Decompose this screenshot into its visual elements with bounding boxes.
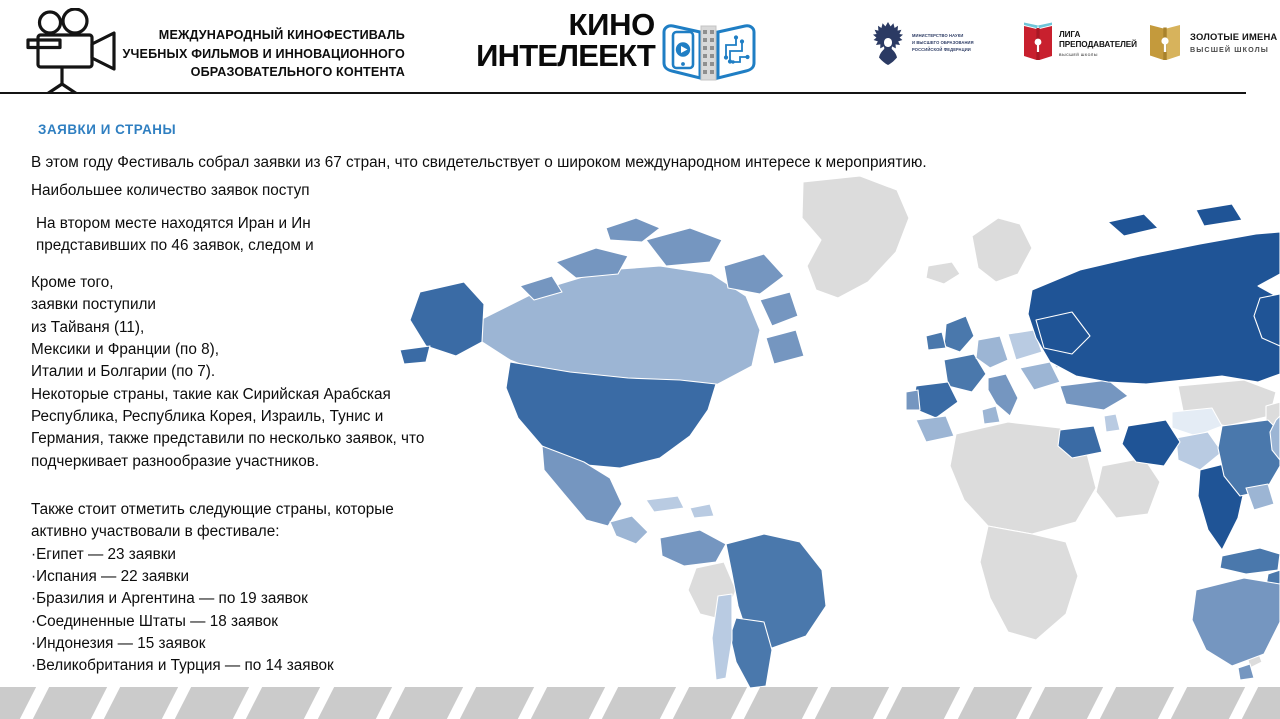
partner-minobrnauki-label: МИНИСТЕРСТВО НАУКИ И ВЫСШЕГО ОБРАЗОВАНИЯ… <box>912 32 974 53</box>
more-line: подчеркивает разнообразие участников. <box>31 451 424 473</box>
stripe <box>670 687 750 719</box>
stripe <box>1025 687 1105 719</box>
stripe <box>741 687 821 719</box>
stripe <box>314 687 394 719</box>
second-line2-clipped: представивших по 46 заявок, следом и <box>36 235 314 257</box>
paragraph-additional-countries: Кроме того, заявки поступили из Тайваня … <box>31 272 424 473</box>
partner-liga-label: ЛИГА ПРЕПОДАВАТЕЛЕЙ <box>1059 30 1137 49</box>
more-line: Германия, также представили по несколько… <box>31 428 424 450</box>
stripe <box>1239 687 1280 719</box>
brand-line-intelekt: ИНТЕЛЕЕКТ <box>470 41 655 72</box>
book-phone-film-icon <box>660 12 758 84</box>
partner-logos: МИНИСТЕРСТВО НАУКИ И ВЫСШЕГО ОБРАЗОВАНИЯ… <box>860 18 1260 78</box>
stripe <box>30 687 110 719</box>
russian-coat-of-arms-icon <box>868 20 908 71</box>
partner-liga-sublabel: ВЫСШЕЙ ШКОЛЫ <box>1059 53 1098 57</box>
stripe <box>954 687 1034 719</box>
brand-line-kino: КИНО <box>470 10 655 41</box>
partner-zolotye-label: ЗОЛОТЫЕ ИМЕНА <box>1190 31 1277 42</box>
list-item: ·Индонезия — 15 заявок <box>31 633 394 655</box>
list-item: ·Соединенные Штаты — 18 заявок <box>31 611 394 633</box>
stripe <box>812 687 892 719</box>
list-item: ·Египет — 23 заявки <box>31 544 394 566</box>
more-line: Кроме того, <box>31 272 424 294</box>
brand-wordmark: КИНО ИНТЕЛЕЕКТ <box>470 10 655 71</box>
list-intro-line2: активно участвовали в фестивале: <box>31 521 394 543</box>
stripe <box>243 687 323 719</box>
second-line1-clipped: На втором месте находятся Иран и Ин <box>36 213 314 235</box>
festival-title-line2: УЧЕБНЫХ ФИЛЬМОВ И ИННОВАЦИОННОГО <box>120 45 405 64</box>
partner-line2: И ВЫСШЕГО ОБРАЗОВАНИЯ <box>912 39 974 46</box>
stripe <box>457 687 537 719</box>
stripe <box>101 687 181 719</box>
brand-logo: КИНО ИНТЕЛЕЕКТ <box>470 6 760 90</box>
world-choropleth-map <box>360 170 1280 690</box>
intro-line1: В этом году Фестиваль собрал заявки из 6… <box>31 152 927 174</box>
stripe <box>528 687 608 719</box>
stripe <box>172 687 252 719</box>
open-book-icon <box>1022 20 1054 69</box>
festival-title: МЕЖДУНАРОДНЫЙ КИНОФЕСТИВАЛЬ УЧЕБНЫХ ФИЛЬ… <box>120 26 405 82</box>
more-line: заявки поступили <box>31 294 424 316</box>
partner-minobrnauki: МИНИСТЕРСТВО НАУКИ И ВЫСШЕГО ОБРАЗОВАНИЯ… <box>868 18 1018 76</box>
list-item: ·Великобритания и Турция — по 14 заявок <box>31 655 394 677</box>
list-intro-line1: Также стоит отметить следующие страны, к… <box>31 499 394 521</box>
festival-title-line1: МЕЖДУНАРОДНЫЙ КИНОФЕСТИВАЛЬ <box>120 26 405 45</box>
intro-line2-clipped: Наибольшее количество заявок поступ <box>31 180 927 202</box>
partner-liga-prepodavateley: ЛИГА ПРЕПОДАВАТЕЛЕЙ ВЫСШЕЙ ШКОЛЫ <box>1022 18 1142 76</box>
partner-zolotye-sublabel: ВЫСШЕЙ ШКОЛЫ <box>1190 45 1269 54</box>
stripe <box>0 687 39 719</box>
more-line: из Тайваня (11), <box>31 317 424 339</box>
header-divider <box>0 92 1246 94</box>
paragraph-intro: В этом году Фестиваль собрал заявки из 6… <box>31 152 927 203</box>
more-line: Мексики и Франции (по 8), <box>31 339 424 361</box>
partner-line1: МИНИСТЕРСТВО НАУКИ <box>912 32 974 39</box>
more-line: Республика, Республика Корея, Израиль, Т… <box>31 406 424 428</box>
more-line: Италии и Болгарии (по 7). <box>31 361 424 383</box>
more-line: Некоторые страны, такие как Сирийская Ар… <box>31 384 424 406</box>
list-item: ·Бразилия и Аргентина — по 19 заявок <box>31 588 394 610</box>
partner-line3: РОССИЙСКОЙ ФЕДЕРАЦИИ <box>912 46 974 53</box>
list-item: ·Испания — 22 заявки <box>31 566 394 588</box>
page-title: ЗАЯВКИ И СТРАНЫ <box>38 122 176 137</box>
stripe <box>1168 687 1248 719</box>
stripe <box>883 687 963 719</box>
paragraph-active-countries: Также стоит отметить следующие страны, к… <box>31 499 394 678</box>
paragraph-second-place: На втором месте находятся Иран и Ин пред… <box>36 213 314 258</box>
stripe <box>599 687 679 719</box>
stripe <box>385 687 465 719</box>
movie-camera-icon <box>14 8 134 94</box>
bottom-stripe-decoration <box>0 687 1280 719</box>
slide-header: МЕЖДУНАРОДНЫЙ КИНОФЕСТИВАЛЬ УЧЕБНЫХ ФИЛЬ… <box>0 0 1280 96</box>
stripe <box>1097 687 1177 719</box>
partner-zolotye-imena: ЗОЛОТЫЕ ИМЕНА ВЫСШЕЙ ШКОЛЫ <box>1148 18 1280 76</box>
festival-title-line3: ОБРАЗОВАТЕЛЬНОГО КОНТЕНТА <box>120 63 405 82</box>
open-book-icon <box>1148 20 1182 69</box>
